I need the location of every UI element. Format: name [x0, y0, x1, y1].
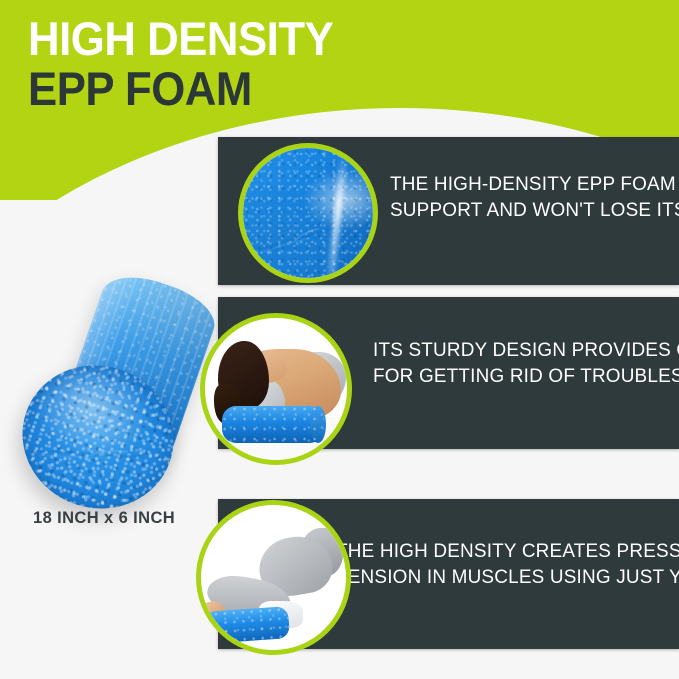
foam-roller-product — [222, 406, 324, 443]
product-hero-foam-roller — [6, 268, 216, 503]
foam-roller-product — [204, 606, 290, 644]
title-line-high-density: HIGH DENSITY — [28, 14, 333, 63]
circle1-inner — [243, 148, 373, 278]
feature-image-foam-roller-end-closeup — [238, 143, 378, 283]
feature-text-reduce-tension: THE HIGH DENSITY CREATES PRESSURE TO RED… — [336, 538, 679, 590]
circle2-inner — [205, 318, 347, 460]
brand-emboss-mark — [253, 213, 339, 268]
page-title: HIGH DENSITY EPP FOAM — [28, 14, 356, 115]
feature-text-sturdy-design: ITS STURDY DESIGN PROVIDES QUALITY PRESS… — [373, 337, 679, 389]
infographic-canvas: HIGH DENSITY EPP FOAM THE HIGH-DENSITY E… — [0, 0, 679, 679]
feature-text-firm-support: THE HIGH-DENSITY EPP FOAM PROVIDES FIRM … — [390, 171, 679, 223]
title-line-epp-foam: EPP FOAM — [28, 63, 333, 115]
feature-image-woman-rolling-upper-back — [200, 313, 352, 465]
feature-image-woman-rolling-calf-leg — [196, 500, 351, 655]
circle3-inner — [201, 505, 346, 650]
product-size-label: 18 INCH x 6 INCH — [33, 509, 175, 528]
